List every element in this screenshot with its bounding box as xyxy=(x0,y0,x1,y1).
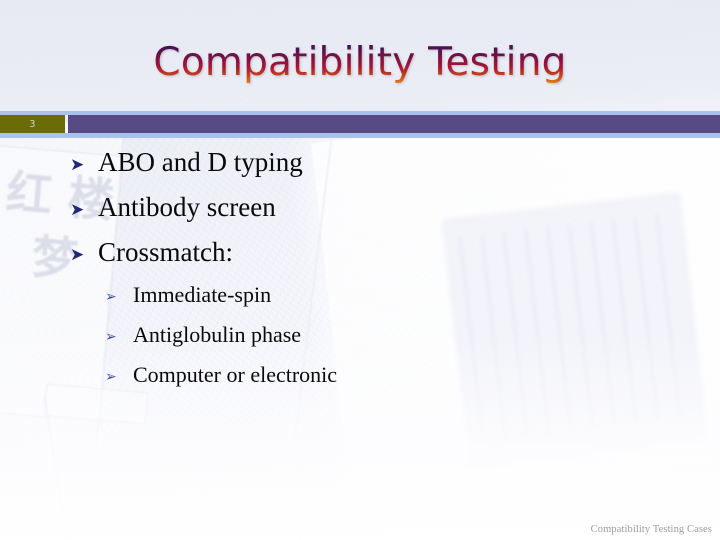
bullet-arrow-icon: ➤ xyxy=(70,233,98,278)
slide-footer: Compatibility Testing Cases xyxy=(591,524,712,535)
bullet-arrow-icon: ➤ xyxy=(70,188,98,233)
sub-bullet-label: Computer or electronic xyxy=(133,355,337,395)
bullet-item: ➤ Antibody screen xyxy=(70,185,680,230)
bullet-label: Antibody screen xyxy=(98,185,276,230)
bullet-item: ➤ Crossmatch: xyxy=(70,230,680,275)
sub-bullet-item: ➢ Immediate-spin xyxy=(105,275,680,315)
slide-body: ➤ ABO and D typing ➤ Antibody screen ➤ C… xyxy=(70,140,680,395)
sub-bullet-item: ➢ Antiglobulin phase xyxy=(105,315,680,355)
bullet-label: Crossmatch: xyxy=(98,230,233,275)
slide-number-badge: 3 xyxy=(0,115,65,133)
bullet-label: ABO and D typing xyxy=(98,140,303,185)
sub-bullet-item: ➢ Computer or electronic xyxy=(105,355,680,395)
sub-bullet-label: Immediate-spin xyxy=(133,275,271,315)
slide-canvas: 红 楼 梦 Compatibility Testing 3 ➤ ABO and … xyxy=(0,0,720,540)
sub-bullet-arrow-icon: ➢ xyxy=(105,317,133,357)
bullet-item: ➤ ABO and D typing xyxy=(70,140,680,185)
accent-hairline-bottom xyxy=(0,133,720,138)
sub-bullet-arrow-icon: ➢ xyxy=(105,357,133,397)
sub-bullet-label: Antiglobulin phase xyxy=(133,315,301,355)
bullet-arrow-icon: ➤ xyxy=(70,143,98,188)
accent-bar-purple xyxy=(68,115,720,133)
sub-bullet-arrow-icon: ➢ xyxy=(105,277,133,317)
slide-title: Compatibility Testing xyxy=(0,38,720,88)
